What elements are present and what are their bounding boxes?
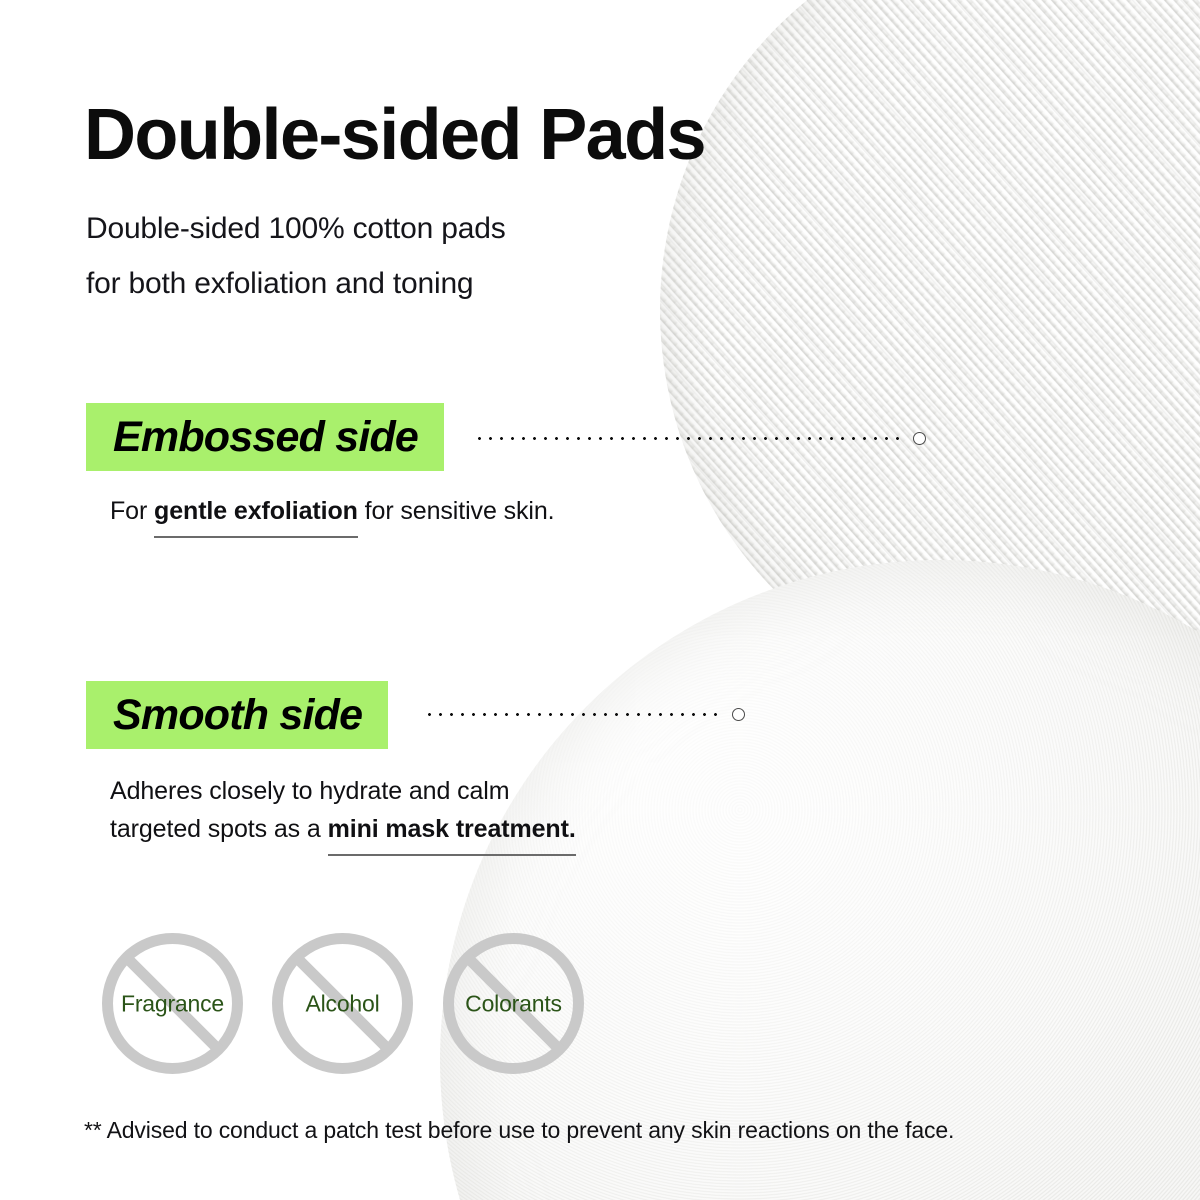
embossed-side-description: For gentle exfoliation for sensitive ski…	[110, 492, 555, 530]
badge-label: Alcohol	[305, 990, 379, 1017]
content-layer: Double-sided Pads Double-sided 100% cott…	[0, 0, 1200, 1200]
embossed-leader-endpoint-icon	[913, 432, 926, 445]
embossed-side-label: Embossed side	[86, 403, 444, 471]
desc-prefix: For	[110, 497, 154, 525]
free-of-badge-fragrance: Fragrance	[101, 932, 244, 1075]
smooth-side-label: Smooth side	[86, 681, 388, 749]
desc-emphasis: mini mask treatment.	[328, 810, 576, 848]
page-title: Double-sided Pads	[84, 98, 705, 174]
desc-prefix: targeted spots as a	[110, 815, 328, 843]
desc-suffix: for sensitive skin.	[358, 497, 555, 525]
free-of-badge-colorants: Colorants	[442, 932, 585, 1075]
embossed-leader-line	[474, 437, 906, 440]
smooth-side-description-line-2: targeted spots as a mini mask treatment.	[110, 810, 576, 848]
infographic-canvas: Double-sided Pads Double-sided 100% cott…	[0, 0, 1200, 1200]
free-of-badge-alcohol: Alcohol	[271, 932, 414, 1075]
smooth-side-description-line-1: Adheres closely to hydrate and calm	[110, 772, 510, 810]
desc-emphasis: gentle exfoliation	[154, 492, 358, 530]
subtitle-line-2: for both exfoliation and toning	[86, 267, 473, 301]
smooth-leader-endpoint-icon	[732, 708, 745, 721]
smooth-leader-line	[424, 713, 721, 716]
subtitle-line-1: Double-sided 100% cotton pads	[86, 212, 506, 246]
badge-label: Colorants	[465, 990, 562, 1017]
footnote-text: ** Advised to conduct a patch test befor…	[84, 1117, 954, 1144]
badge-label: Fragrance	[121, 990, 224, 1017]
